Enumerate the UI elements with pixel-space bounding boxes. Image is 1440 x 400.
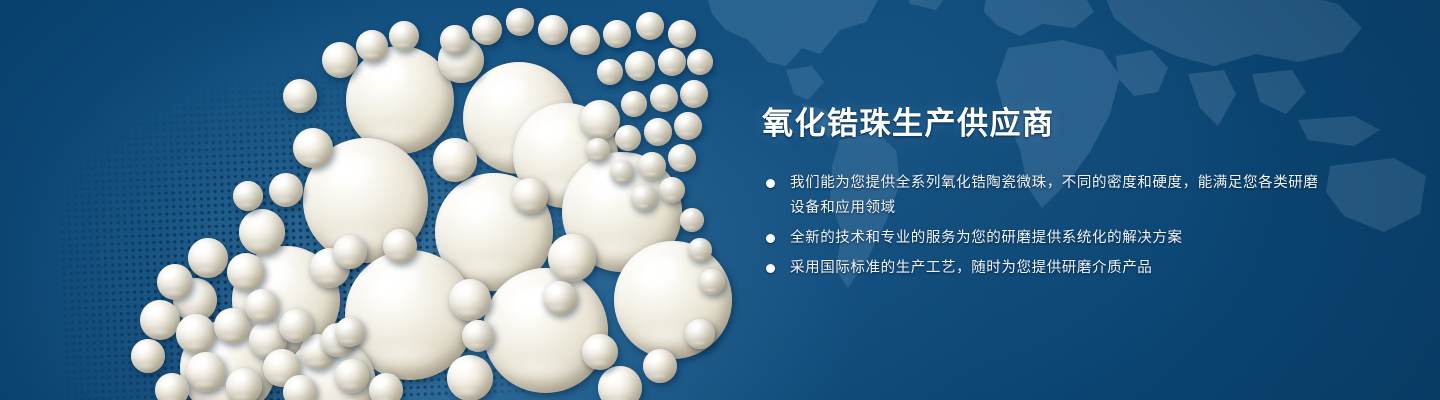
ceramic-bead (680, 80, 708, 108)
ceramic-bead (580, 100, 620, 140)
banner-headline: 氧化锆珠生产供应商 (762, 106, 1322, 143)
ceramic-bead (356, 30, 388, 62)
ceramic-bead (586, 138, 610, 162)
ceramic-bead (597, 59, 623, 85)
ceramic-bead (157, 264, 193, 300)
ceramic-bead (615, 125, 641, 151)
ceramic-bead (582, 334, 618, 370)
feature-bullet-label: 采用国际标准的生产工艺，随时为您提供研磨介质产品 (790, 256, 1322, 281)
ceramic-bead (674, 112, 702, 140)
hero-banner: 氧化锆珠生产供应商 我们能为您提供全系列氧化锆陶瓷微珠，不同的密度和硬度，能满足… (0, 0, 1440, 400)
ceramic-bead (269, 173, 303, 207)
feature-bullet: 我们能为您提供全系列氧化锆陶瓷微珠，不同的密度和硬度，能满足您各类研磨设备和应用… (762, 171, 1322, 221)
zirconia-beads-image (0, 0, 760, 400)
ceramic-bead (543, 281, 577, 315)
ceramic-bead (668, 144, 696, 172)
bullet-dot-icon (766, 234, 775, 243)
ceramic-bead (472, 15, 502, 45)
ceramic-bead (668, 20, 696, 48)
ceramic-bead (283, 79, 317, 113)
ceramic-bead (335, 359, 369, 393)
ceramic-bead (140, 300, 180, 340)
feature-bullet: 采用国际标准的生产工艺，随时为您提供研磨介质产品 (762, 256, 1322, 281)
ceramic-bead (643, 349, 677, 383)
ceramic-bead (625, 51, 655, 81)
ceramic-bead (293, 128, 333, 168)
ceramic-bead (433, 138, 477, 182)
ceramic-bead (538, 15, 568, 45)
ceramic-bead (239, 209, 285, 255)
ceramic-bead (447, 355, 493, 400)
ceramic-bead (176, 314, 216, 354)
feature-bullet-list: 我们能为您提供全系列氧化锆陶瓷微珠，不同的密度和硬度，能满足您各类研磨设备和应用… (762, 171, 1322, 281)
ceramic-bead (449, 279, 491, 321)
ceramic-bead (369, 373, 403, 400)
ceramic-bead (621, 91, 647, 117)
ceramic-bead (186, 352, 226, 392)
ceramic-bead (440, 25, 470, 55)
ceramic-bead (644, 118, 672, 146)
ceramic-bead (226, 368, 262, 400)
ceramic-bead (687, 49, 713, 75)
ceramic-bead (659, 177, 685, 203)
ceramic-bead (389, 21, 419, 51)
ceramic-bead (614, 241, 732, 359)
ceramic-bead (699, 269, 725, 295)
banner-content: 氧化锆珠生产供应商 我们能为您提供全系列氧化锆陶瓷微珠，不同的密度和硬度，能满足… (762, 106, 1322, 286)
ceramic-bead (462, 320, 494, 352)
ceramic-bead (598, 366, 642, 400)
ceramic-bead (188, 238, 228, 278)
ceramic-bead (322, 42, 358, 78)
ceramic-bead (688, 238, 712, 262)
ceramic-bead (650, 84, 678, 112)
ceramic-bead (603, 20, 631, 48)
ceramic-bead (233, 181, 263, 211)
ceramic-bead (333, 235, 367, 269)
ceramic-bead (131, 339, 165, 373)
ceramic-bead (680, 208, 704, 232)
ceramic-bead (155, 373, 189, 400)
ceramic-bead (631, 185, 657, 211)
ceramic-bead (512, 178, 548, 214)
ceramic-bead (685, 319, 715, 349)
ceramic-bead (506, 8, 534, 36)
ceramic-bead (638, 152, 666, 180)
ceramic-bead (658, 48, 686, 76)
ceramic-bead (570, 25, 600, 55)
ceramic-bead (548, 234, 596, 282)
ceramic-bead (636, 12, 664, 40)
ceramic-bead (335, 317, 365, 347)
bullet-dot-icon (766, 179, 775, 188)
ceramic-bead (245, 289, 279, 323)
feature-bullet-label: 我们能为您提供全系列氧化锆陶瓷微珠，不同的密度和硬度，能满足您各类研磨设备和应用… (790, 171, 1322, 221)
feature-bullet: 全新的技术和专业的服务为您的研磨提供系统化的解决方案 (762, 226, 1322, 251)
ceramic-bead (383, 229, 417, 263)
ceramic-bead (227, 253, 265, 291)
bullet-dot-icon (766, 264, 775, 273)
ceramic-bead (214, 308, 250, 344)
ceramic-bead (483, 268, 608, 393)
ceramic-bead (279, 309, 313, 343)
feature-bullet-label: 全新的技术和专业的服务为您的研磨提供系统化的解决方案 (790, 226, 1322, 251)
ceramic-bead (610, 160, 634, 184)
